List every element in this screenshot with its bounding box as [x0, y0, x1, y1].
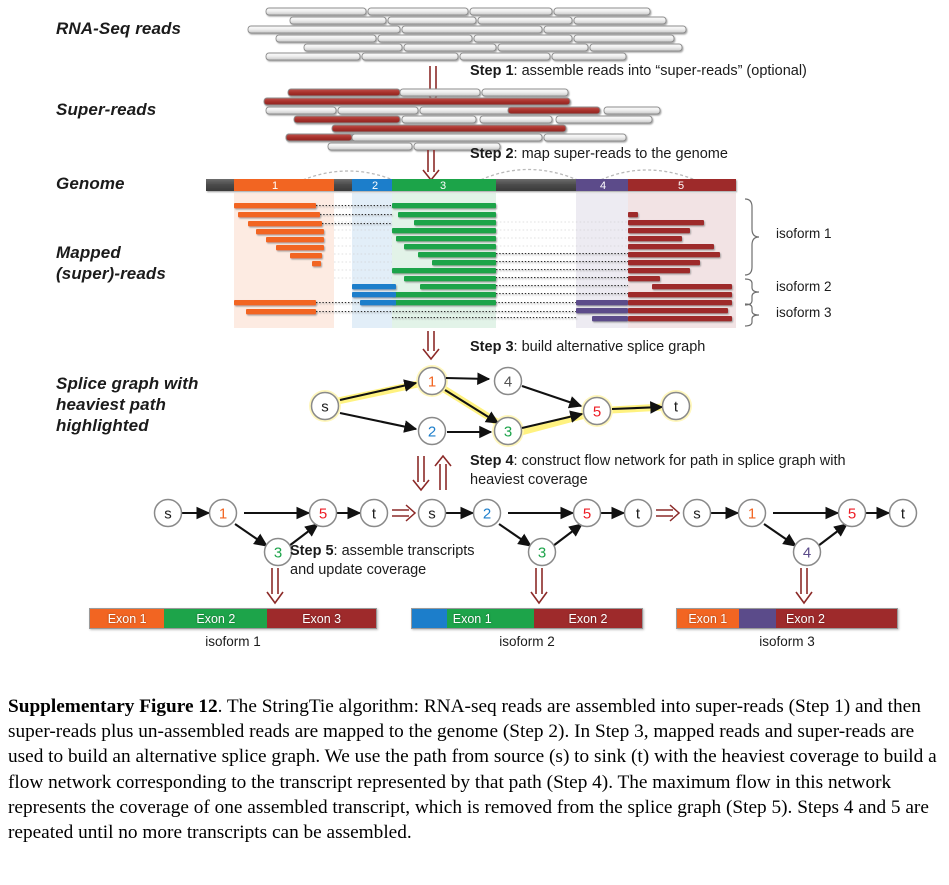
splice-node-5: 5	[593, 404, 601, 421]
step-4-body: : construct flow network for path in spl…	[470, 453, 846, 488]
step-3-number: Step 3	[470, 339, 514, 355]
caption-body: . The StringTie algorithm: RNA-seq reads…	[8, 696, 937, 843]
bracket-label-isoform-2: isoform 2	[776, 279, 832, 294]
isoform-1-bar-group: Exon 1 Exon 2 Exon 3 isoform 1	[89, 608, 377, 649]
isoform-1-bar: Exon 1 Exon 2 Exon 3	[89, 608, 377, 629]
super-reads-group	[264, 89, 660, 150]
splice-graph: s 1 4 2 3 5 t	[309, 365, 692, 447]
isoform-2-segment-2-label: Exon 1	[453, 612, 492, 626]
flow3-node-1: 1	[748, 506, 756, 523]
bracket-label-isoform-1: isoform 1	[776, 226, 832, 241]
step-5-number: Step 5	[290, 543, 334, 559]
bracket-label-isoform-3: isoform 3	[776, 305, 832, 320]
splice-node-2: 2	[428, 424, 436, 441]
isoform-3-segment-1-label: Exon 1	[688, 612, 727, 626]
flow1-node-1: 1	[219, 506, 227, 523]
isoform-1-segment-2: Exon 2	[164, 609, 267, 628]
step4-arrows	[413, 456, 451, 490]
step-3-body: : build alternative splice graph	[514, 339, 706, 355]
splice-node-3: 3	[504, 424, 512, 441]
genome-exon-5-label: 5	[678, 180, 684, 192]
isoform-1-segment-3-label: Exon 3	[302, 612, 341, 626]
row-label-splice-graph: Splice graph with heaviest path highligh…	[56, 373, 198, 436]
step-3-text: Step 3: build alternative splice graph	[470, 338, 900, 357]
step-2-number: Step 2	[470, 146, 514, 162]
flow-network-3: s 1 4 5 t	[684, 500, 917, 566]
genome-exon-1-label: 1	[272, 180, 278, 192]
step-2-text: Step 2: map super-reads to the genome	[470, 145, 900, 164]
step-1-body: : assemble reads into “super-reads” (opt…	[514, 63, 807, 79]
isoform-braces	[745, 199, 759, 326]
step3-arrow	[423, 331, 439, 359]
splice-node-4: 4	[504, 374, 512, 391]
figure-caption: Supplementary Figure 12. The StringTie a…	[8, 694, 942, 845]
genome-exon-4-label: 4	[600, 180, 606, 192]
flow1-node-5: 5	[319, 506, 327, 523]
flow3-node-s: s	[693, 506, 701, 523]
isoform-3-caption: isoform 3	[676, 634, 898, 649]
mapped-reads-group	[234, 193, 759, 328]
row-label-mapped-super-reads: Mapped (super)-reads	[56, 242, 166, 284]
row-label-super-reads: Super-reads	[56, 99, 156, 120]
isoform-3-segment-3-label: Exon 2	[786, 612, 825, 626]
isoform-1-caption: isoform 1	[89, 634, 377, 649]
isoform-2-segment-3-label: Exon 2	[568, 612, 607, 626]
step-4-text: Step 4: construct flow network for path …	[470, 452, 870, 490]
row-label-rna-seq-reads: RNA-Seq reads	[56, 18, 181, 39]
rna-seq-reads-group	[248, 8, 686, 60]
step-4-number: Step 4	[470, 453, 514, 469]
genome-bar: 1 2 3 4 5	[206, 179, 736, 192]
step-5-text: Step 5: assemble transcripts and update …	[290, 542, 475, 580]
isoform-1-segment-1: Exon 1	[90, 609, 164, 628]
step-1-text: Step 1: assemble reads into “super-reads…	[470, 62, 940, 81]
genome-exon-2-label: 2	[372, 180, 378, 192]
isoform-3-bar: Exon 1 Exon 2	[676, 608, 898, 629]
genome-exon-3-label: 3	[440, 180, 446, 192]
flow2-node-2: 2	[483, 506, 491, 523]
isoform-2-bar-group: Exon 1 Exon 2 isoform 2	[411, 608, 643, 649]
isoform-3-segment-2	[739, 609, 776, 628]
flow3-node-4: 4	[803, 545, 811, 562]
splice-node-s: s	[321, 399, 329, 416]
isoform-2-segment-1	[412, 609, 447, 628]
flow-separator-1	[392, 505, 415, 521]
row-label-genome: Genome	[56, 173, 125, 194]
flow1-node-s: s	[164, 506, 172, 523]
isoform-3-segment-3: Exon 2	[776, 609, 897, 628]
flow2-node-5: 5	[583, 506, 591, 523]
isoform-3-bar-group: Exon 1 Exon 2 isoform 3	[676, 608, 898, 649]
isoform-1-segment-1-label: Exon 1	[108, 612, 147, 626]
isoform-3-segment-1: Exon 1	[677, 609, 739, 628]
figure-panel: 1 2 3 4 5	[0, 0, 949, 680]
flow3-node-5: 5	[848, 506, 856, 523]
caption-figure-number: Supplementary Figure 12	[8, 696, 218, 717]
step2-arrow	[423, 150, 439, 180]
flow-separator-2	[656, 505, 679, 521]
isoform-2-segment-3: Exon 2	[534, 609, 642, 628]
step-2-body: : map super-reads to the genome	[514, 146, 728, 162]
flow2-node-3: 3	[538, 545, 546, 562]
splice-node-1: 1	[428, 374, 436, 391]
isoform-1-segment-3: Exon 3	[267, 609, 376, 628]
isoform-2-segment-2: Exon 1	[447, 609, 534, 628]
isoform-2-caption: isoform 2	[411, 634, 643, 649]
isoform-1-segment-2-label: Exon 2	[196, 612, 235, 626]
flow1-node-3: 3	[274, 545, 282, 562]
step-1-number: Step 1	[470, 63, 514, 79]
flow2-node-s: s	[428, 506, 436, 523]
isoform-2-bar: Exon 1 Exon 2	[411, 608, 643, 629]
